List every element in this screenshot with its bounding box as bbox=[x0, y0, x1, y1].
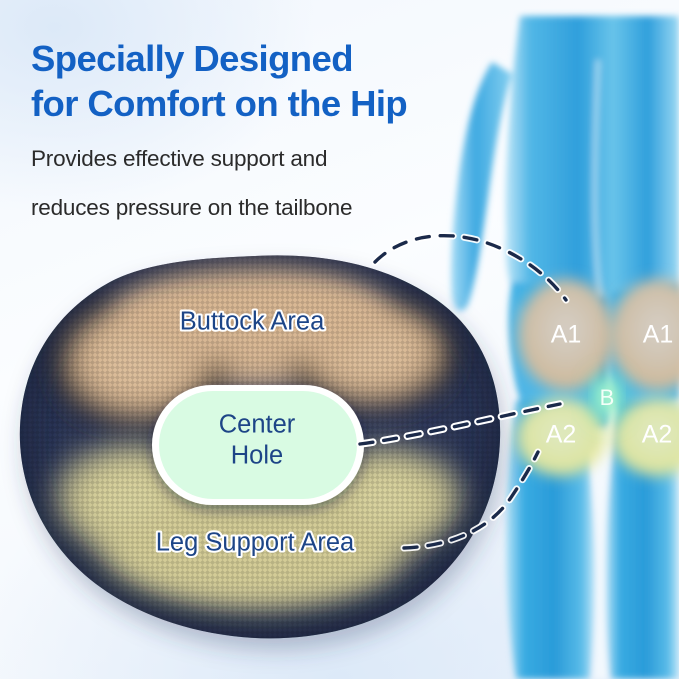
headline-line-1: Specially Designed bbox=[31, 36, 461, 81]
subtitle-line-1: Provides effective support and bbox=[31, 142, 461, 175]
connector-top-halo bbox=[375, 236, 566, 300]
headline-line-2: for Comfort on the Hip bbox=[31, 81, 461, 126]
infographic-canvas: Specially Designed for Comfort on the Hi… bbox=[0, 0, 679, 679]
connector-bottom-arc bbox=[404, 452, 538, 548]
subtitle-line-2: reduces pressure on the tailbone bbox=[31, 191, 461, 224]
connector-bottom-halo bbox=[404, 452, 538, 548]
text-block: Specially Designed for Comfort on the Hi… bbox=[31, 36, 461, 224]
connector-middle-line bbox=[360, 404, 560, 444]
